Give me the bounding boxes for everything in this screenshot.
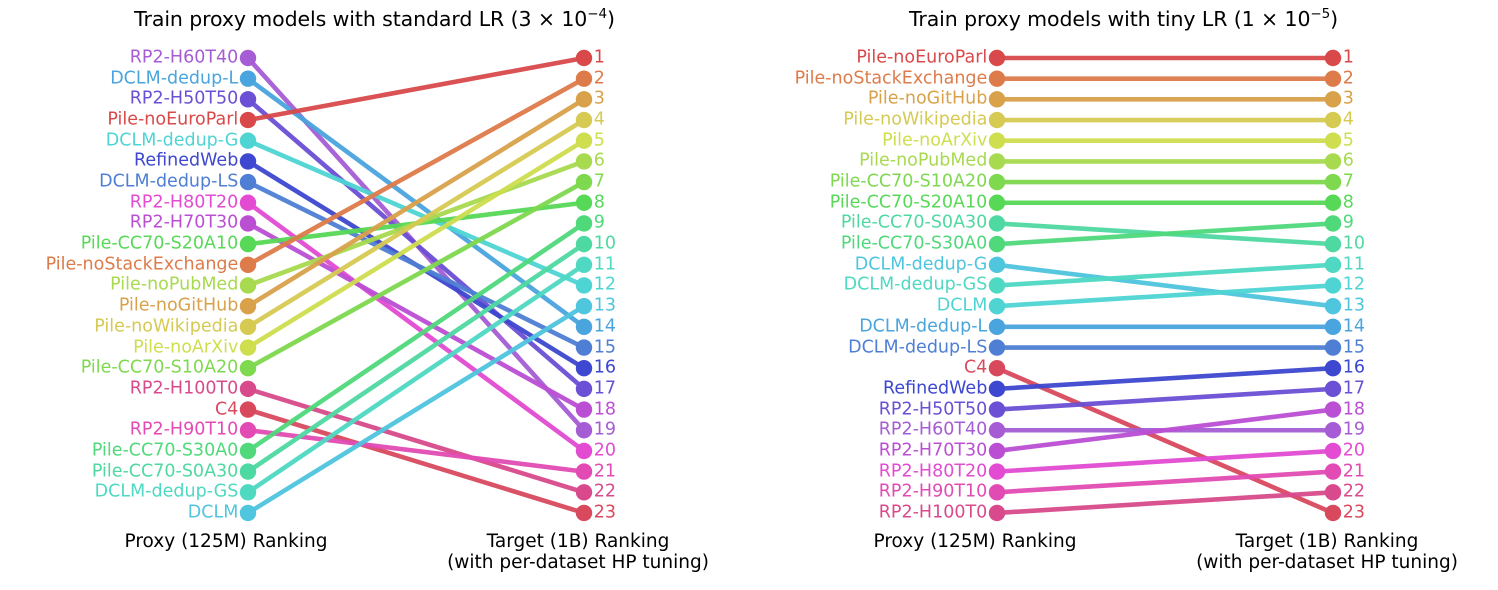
target-rank-label: 16: [1343, 359, 1365, 377]
proxy-rank-label: Pile-CC70-S10A20: [81, 359, 239, 377]
proxy-rank-label: DCLM-dedup-G: [855, 256, 988, 274]
proxy-rank-label: DCLM-dedup-L: [859, 318, 987, 336]
target-rank-label: 22: [594, 484, 616, 502]
target-rank-label: 2: [1343, 70, 1354, 88]
target-rank-label: 16: [594, 359, 616, 377]
proxy-rank-label: Pile-noPubMed: [110, 277, 238, 295]
axis-label-target-left: Target (1B) Ranking (with per-dataset HP…: [447, 531, 709, 573]
proxy-rank-label: Pile-CC70-S30A0: [92, 442, 238, 460]
proxy-rank-label: DCLM-dedup-GS: [844, 277, 988, 295]
proxy-rank-label: DCLM-dedup-L: [110, 70, 238, 88]
target-rank-label: 3: [594, 91, 605, 109]
proxy-rank-label: RefinedWeb: [883, 380, 987, 398]
target-rank-label: 6: [594, 153, 605, 171]
proxy-rank-label: RP2-H50T50: [130, 91, 239, 109]
proxy-rank-label: Pile-noGitHub: [868, 91, 987, 109]
target-rank-label: 14: [594, 318, 616, 336]
target-rank-label: 7: [594, 173, 605, 191]
target-rank-label: 3: [1343, 91, 1354, 109]
target-rank-label: 8: [1343, 194, 1354, 212]
target-rank-label: 5: [1343, 132, 1354, 150]
target-rank-label: 1: [594, 49, 605, 67]
proxy-rank-label: RP2-H60T40: [130, 49, 239, 67]
proxy-rank-label: RP2-H70T30: [130, 215, 239, 233]
target-rank-label: 1: [1343, 49, 1354, 67]
axis-label-target-right: Target (1B) Ranking (with per-dataset HP…: [1196, 531, 1458, 573]
target-rank-label: 11: [1343, 256, 1365, 274]
proxy-rank-label: Pile-noPubMed: [859, 153, 987, 171]
target-rank-label: 4: [594, 111, 605, 129]
target-rank-label: 20: [594, 442, 616, 460]
target-rank-label: 15: [594, 339, 616, 357]
proxy-rank-label: RP2-H50T50: [879, 401, 988, 419]
target-rank-label: 13: [594, 297, 616, 315]
target-rank-label: 13: [1343, 297, 1365, 315]
target-rank-label: 12: [594, 277, 616, 295]
proxy-rank-label: RP2-H60T40: [879, 421, 988, 439]
proxy-rank-label: Pile-noWikipedia: [94, 318, 238, 336]
target-rank-label: 18: [594, 401, 616, 419]
proxy-rank-label: RefinedWeb: [134, 153, 238, 171]
target-rank-label: 21: [1343, 463, 1365, 481]
node-labels-standard-lr: RP2-H60T40DCLM-dedup-LRP2-H50T50Pile-noE…: [0, 0, 749, 590]
target-rank-label: 21: [594, 463, 616, 481]
axis-label-target-line1: Target (1B) Ranking: [487, 531, 670, 552]
target-rank-label: 9: [1343, 215, 1354, 233]
panel-standard-lr: Train proxy models with standard LR (3 ×…: [0, 0, 749, 590]
target-rank-label: 15: [1343, 339, 1365, 357]
target-rank-label: 7: [1343, 173, 1354, 191]
target-rank-label: 19: [1343, 421, 1365, 439]
proxy-rank-label: Pile-CC70-S20A10: [81, 235, 239, 253]
target-rank-label: 22: [1343, 484, 1365, 502]
proxy-rank-label: Pile-CC70-S0A30: [841, 215, 987, 233]
proxy-rank-label: Pile-CC70-S10A20: [830, 173, 988, 191]
target-rank-label: 12: [1343, 277, 1365, 295]
target-rank-label: 8: [594, 194, 605, 212]
proxy-rank-label: C4: [964, 359, 987, 377]
target-rank-label: 17: [594, 380, 616, 398]
axis-label-target-line1: Target (1B) Ranking: [1236, 531, 1419, 552]
target-rank-label: 14: [1343, 318, 1365, 336]
axis-label-proxy-left: Proxy (125M) Ranking: [125, 531, 328, 552]
proxy-rank-label: Pile-noStackExchange: [795, 70, 988, 88]
axis-label-target-line2: (with per-dataset HP tuning): [447, 552, 709, 573]
proxy-rank-label: Pile-CC70-S20A10: [830, 194, 988, 212]
target-rank-label: 2: [594, 70, 605, 88]
proxy-rank-label: Pile-CC70-S0A30: [92, 463, 238, 481]
target-rank-label: 6: [1343, 153, 1354, 171]
target-rank-label: 23: [594, 504, 616, 522]
target-rank-label: 18: [1343, 401, 1365, 419]
proxy-rank-label: Pile-noStackExchange: [46, 256, 239, 274]
proxy-rank-label: RP2-H90T10: [130, 421, 239, 439]
proxy-rank-label: Pile-noGitHub: [119, 297, 238, 315]
panel-tiny-lr: Train proxy models with tiny LR (1 × 10−…: [749, 0, 1498, 590]
proxy-rank-label: Pile-noArXiv: [133, 339, 238, 357]
proxy-rank-label: RP2-H90T10: [879, 484, 988, 502]
proxy-rank-label: Pile-noEuroParl: [107, 111, 238, 129]
proxy-rank-label: RP2-H80T20: [130, 194, 239, 212]
target-rank-label: 23: [1343, 504, 1365, 522]
proxy-rank-label: DCLM: [937, 297, 988, 315]
proxy-rank-label: DCLM-dedup-G: [106, 132, 239, 150]
proxy-rank-label: DCLM-dedup-GS: [95, 484, 239, 502]
axis-label-target-line2: (with per-dataset HP tuning): [1196, 552, 1458, 573]
proxy-rank-label: C4: [215, 401, 238, 419]
proxy-rank-label: RP2-H100T0: [130, 380, 239, 398]
target-rank-label: 20: [1343, 442, 1365, 460]
target-rank-label: 10: [1343, 235, 1365, 253]
target-rank-label: 5: [594, 132, 605, 150]
parallel-ranking-figure: Train proxy models with standard LR (3 ×…: [0, 0, 1498, 590]
target-rank-label: 17: [1343, 380, 1365, 398]
target-rank-label: 4: [1343, 111, 1354, 129]
proxy-rank-label: Pile-noWikipedia: [843, 111, 987, 129]
proxy-rank-label: Pile-noArXiv: [882, 132, 987, 150]
proxy-rank-label: RP2-H100T0: [879, 504, 988, 522]
target-rank-label: 9: [594, 215, 605, 233]
target-rank-label: 10: [594, 235, 616, 253]
proxy-rank-label: RP2-H70T30: [879, 442, 988, 460]
proxy-rank-label: RP2-H80T20: [879, 463, 988, 481]
proxy-rank-label: DCLM: [188, 504, 239, 522]
proxy-rank-label: DCLM-dedup-LS: [99, 173, 238, 191]
target-rank-label: 11: [594, 256, 616, 274]
node-labels-tiny-lr: Pile-noEuroParlPile-noStackExchangePile-…: [749, 0, 1498, 590]
proxy-rank-label: DCLM-dedup-LS: [848, 339, 987, 357]
proxy-rank-label: Pile-noEuroParl: [856, 49, 987, 67]
proxy-rank-label: Pile-CC70-S30A0: [841, 235, 987, 253]
axis-label-proxy-right: Proxy (125M) Ranking: [874, 531, 1077, 552]
target-rank-label: 19: [594, 421, 616, 439]
